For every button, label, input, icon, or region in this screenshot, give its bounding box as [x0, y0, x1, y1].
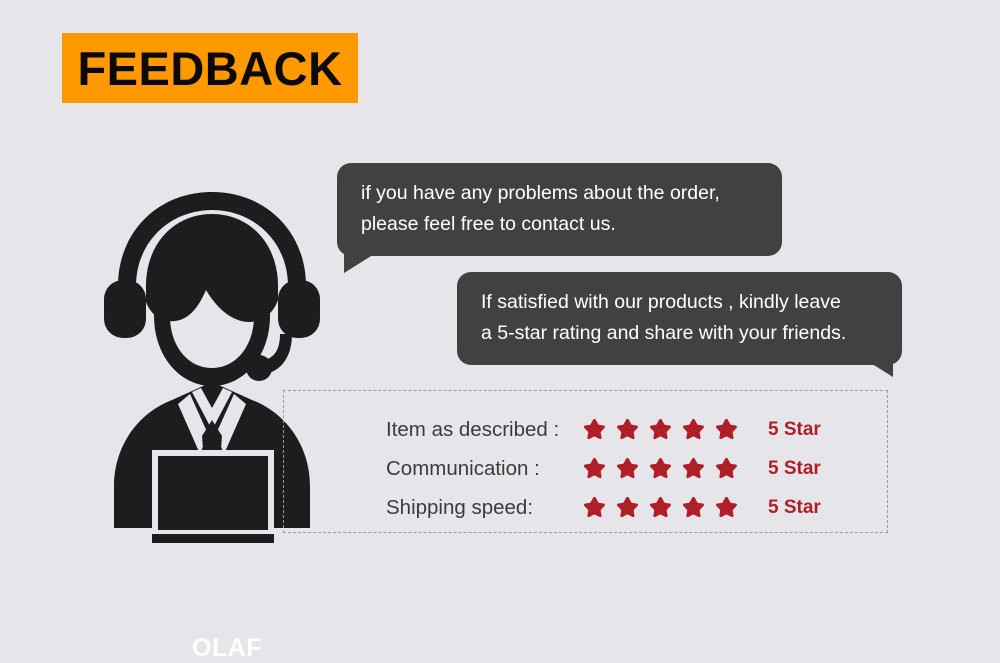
- ratings-list: Item as described : 5 Star Communication…: [386, 410, 846, 527]
- star-icon: [714, 495, 739, 520]
- rating-label: Shipping speed:: [386, 496, 582, 520]
- star-rating-communication: [582, 456, 758, 481]
- laptop: [146, 450, 280, 543]
- support-speech-bubble: if you have any problems about the order…: [337, 163, 782, 256]
- star-icon: [681, 495, 706, 520]
- rating-value: 5 Star: [758, 458, 821, 480]
- rating-row-item-as-described: Item as described : 5 Star: [386, 410, 846, 449]
- laptop-brand-label: OLAF: [192, 634, 262, 663]
- rating-row-shipping-speed: Shipping speed: 5 Star: [386, 488, 846, 527]
- feedback-banner-page: FEEDBACK: [0, 0, 1000, 583]
- star-icon: [615, 417, 640, 442]
- star-icon: [582, 495, 607, 520]
- star-icon: [648, 495, 673, 520]
- star-rating-shipping-speed: [582, 495, 758, 520]
- rating-value: 5 Star: [758, 497, 821, 519]
- rating-label: Item as described :: [386, 418, 582, 442]
- rating-value: 5 Star: [758, 419, 821, 441]
- star-icon: [615, 456, 640, 481]
- star-icon: [582, 417, 607, 442]
- star-icon: [648, 456, 673, 481]
- support-bubble-text: if you have any problems about the order…: [361, 178, 760, 240]
- star-icon: [681, 417, 706, 442]
- star-icon: [582, 456, 607, 481]
- feedback-banner: FEEDBACK: [62, 33, 358, 103]
- rating-row-communication: Communication : 5 Star: [386, 449, 846, 488]
- star-rating-item-as-described: [582, 417, 758, 442]
- support-bubble-tail: [344, 243, 392, 273]
- star-icon: [714, 456, 739, 481]
- rating-request-bubble-tail: [845, 347, 893, 377]
- star-icon: [615, 495, 640, 520]
- rating-label: Communication :: [386, 457, 582, 481]
- feedback-title: FEEDBACK: [77, 45, 342, 92]
- rating-request-bubble-text: If satisfied with our products , kindly …: [481, 287, 880, 349]
- rating-request-speech-bubble: If satisfied with our products , kindly …: [457, 272, 902, 365]
- star-icon: [648, 417, 673, 442]
- star-icon: [681, 456, 706, 481]
- star-icon: [714, 417, 739, 442]
